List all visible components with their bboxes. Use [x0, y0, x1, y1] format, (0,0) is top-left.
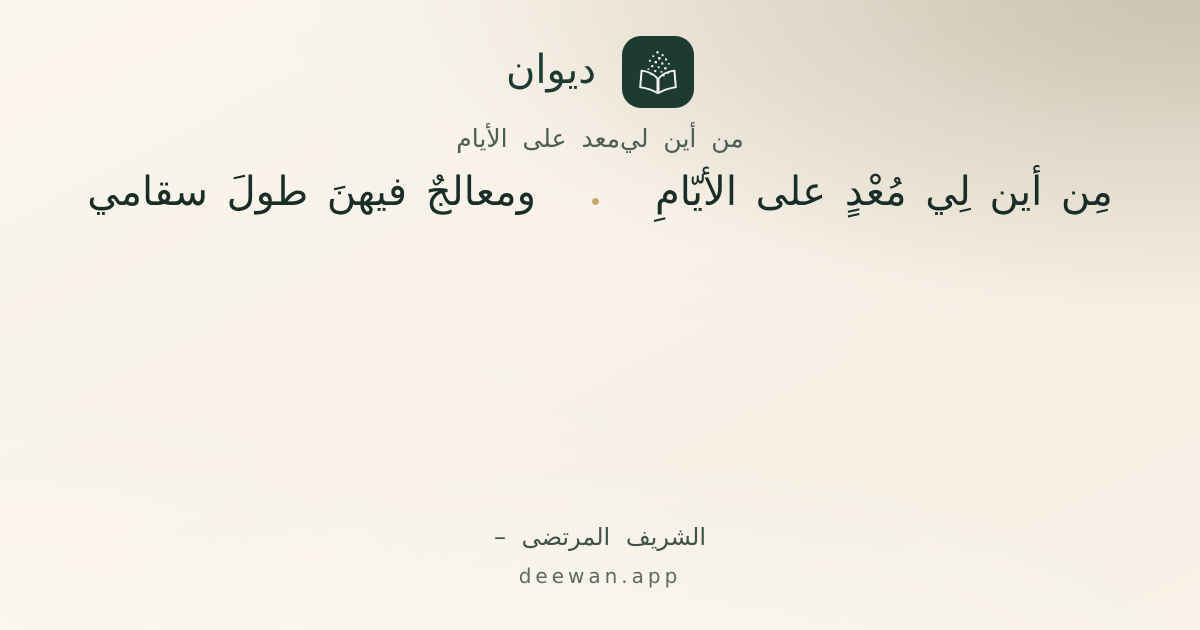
brand-title: ديوان [506, 50, 596, 94]
dot-separator-icon [592, 198, 599, 205]
open-book-with-sparkles-icon [634, 50, 682, 94]
poem-verse: مِن أين لِي مُعْدٍ على الأيّامِ ومعالجٌ … [0, 163, 1200, 221]
app-logo [622, 36, 694, 108]
poet-attribution: الشريف المرتضى – [0, 521, 1200, 553]
poem-subtitle: من أين لي‌معد على الأيام [0, 121, 1200, 156]
site-url: deewan.app [0, 564, 1200, 588]
verse-first-hemistich: مِن أين لِي مُعْدٍ على الأيّامِ [655, 163, 1113, 221]
card-content: ديوان من أين لي‌معد على الأيام مِن أين ل… [0, 0, 1200, 630]
brand-header: ديوان [0, 36, 1200, 108]
poem-share-card: ديوان من أين لي‌معد على الأيام مِن أين ل… [0, 0, 1200, 630]
card-footer: الشريف المرتضى – deewan.app [0, 521, 1200, 588]
verse-second-hemistich: ومعالجٌ فيهنَ طولَ سقامي [87, 163, 536, 221]
